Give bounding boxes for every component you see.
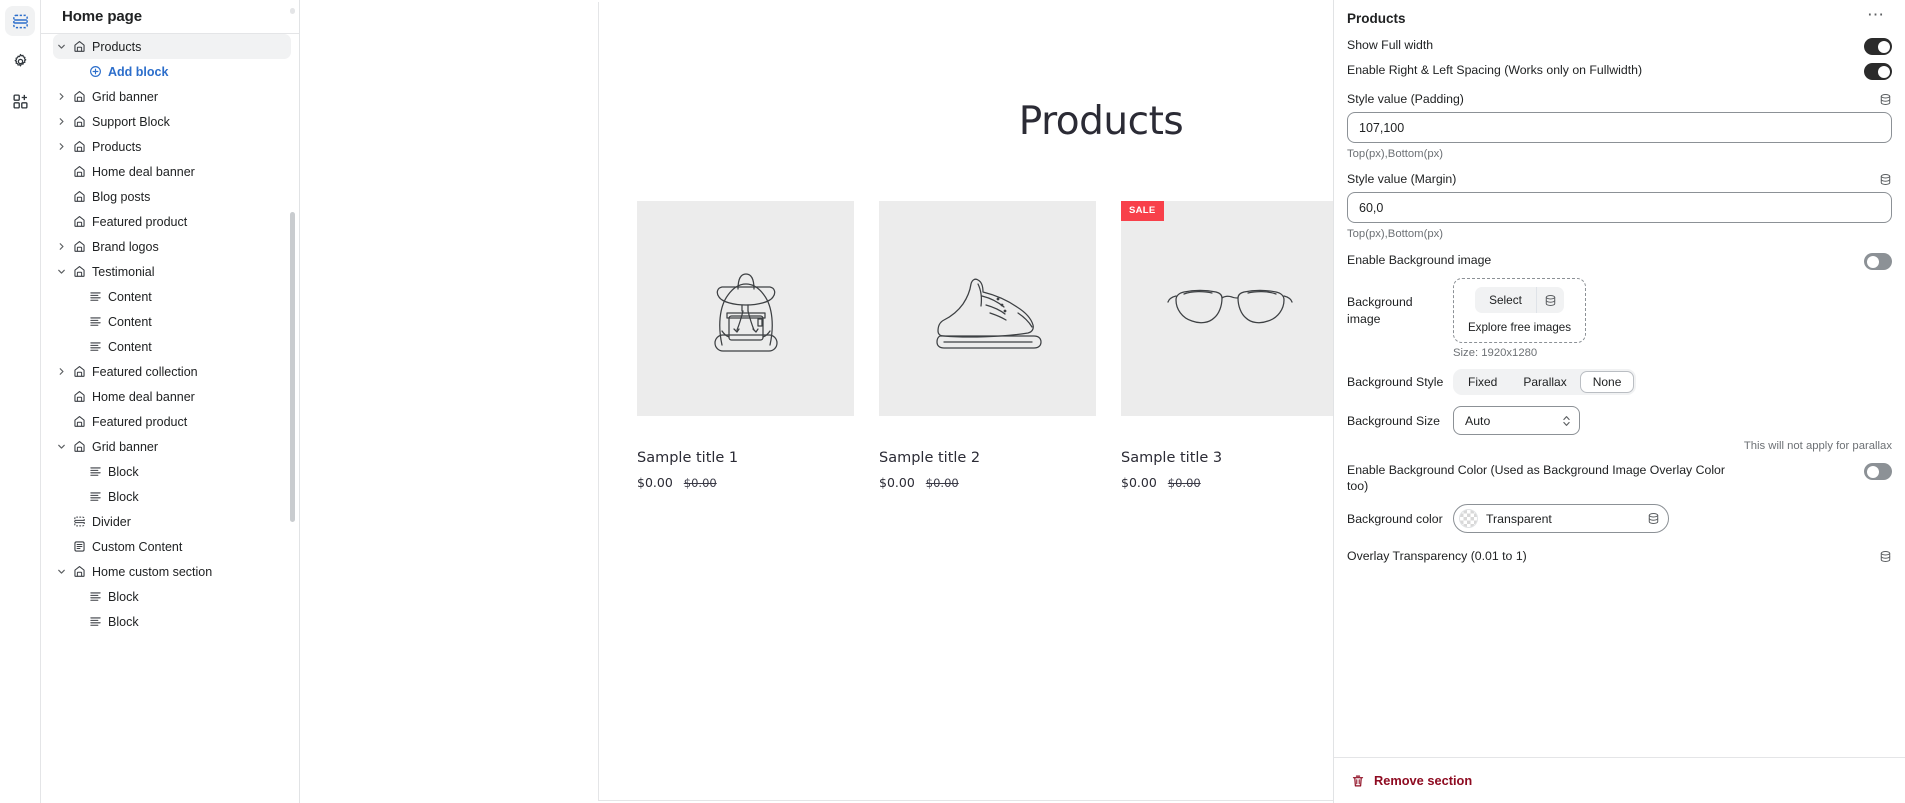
padding-hint: Top(px),Bottom(px) bbox=[1347, 143, 1892, 160]
sidebar-scrollbar-track bbox=[290, 8, 295, 14]
sidebar-item-block[interactable]: Block bbox=[53, 609, 291, 634]
toggle-knob bbox=[1878, 41, 1890, 53]
chevron-right-icon[interactable] bbox=[53, 366, 69, 377]
chevron-right-icon[interactable] bbox=[53, 91, 69, 102]
sidebar-item-label: Featured product bbox=[89, 415, 187, 429]
setting-overlay-transparency: Overlay Transparency (0.01 to 1) bbox=[1347, 533, 1892, 563]
sidebar-item-testimonial[interactable]: Testimonial bbox=[53, 259, 291, 284]
background-color-picker[interactable]: Transparent bbox=[1453, 504, 1669, 533]
background-image-size-hint: Size: 1920x1280 bbox=[1347, 343, 1892, 359]
sidebar-item-custom-content[interactable]: Custom Content bbox=[53, 534, 291, 559]
margin-label-row: Style value (Margin) bbox=[1347, 160, 1892, 186]
sidebar-item-divider[interactable]: Divider bbox=[53, 509, 291, 534]
sidebar-item-label: Custom Content bbox=[89, 540, 182, 554]
setting-background-image: Background image Select Explore free ima bbox=[1347, 270, 1892, 343]
sidebar-item-block[interactable]: Block bbox=[53, 584, 291, 609]
product-title[interactable]: Sample title 3 bbox=[1121, 450, 1338, 466]
sidebar-item-add-block[interactable]: Add block bbox=[53, 59, 291, 84]
sidebar-item-support-block[interactable]: Support Block bbox=[53, 109, 291, 134]
apps-add-icon[interactable] bbox=[5, 86, 35, 116]
sidebar-item-block[interactable]: Block bbox=[53, 459, 291, 484]
overlay-transparency-label: Overlay Transparency (0.01 to 1) bbox=[1347, 549, 1527, 563]
product-image[interactable] bbox=[637, 201, 854, 416]
sidebar-item-label: Home deal banner bbox=[89, 165, 195, 179]
sidebar-item-label: Content bbox=[105, 290, 152, 304]
setting-background-style: Background Style FixedParallaxNone bbox=[1347, 359, 1892, 395]
background-size-value: Auto bbox=[1465, 414, 1490, 428]
sidebar-item-label: Content bbox=[105, 315, 152, 329]
settings-content: Products ⋯ Show Full width Enable Right … bbox=[1334, 0, 1905, 563]
sidebar-item-home-deal-banner[interactable]: Home deal banner bbox=[53, 159, 291, 184]
dynamic-source-icon[interactable] bbox=[1647, 512, 1660, 525]
enable-bg-color-label: Enable Background Color (Used as Backgro… bbox=[1347, 462, 1747, 494]
product-price-row: $0.00$0.00 bbox=[1121, 475, 1338, 490]
sidebar-item-label: Content bbox=[105, 340, 152, 354]
dynamic-source-icon[interactable] bbox=[1879, 93, 1892, 106]
settings-footer: Remove section bbox=[1334, 757, 1905, 803]
page-title: Home page bbox=[62, 8, 142, 25]
preview-area: Products Sample title 1$0.00$0.00Sample … bbox=[300, 0, 1333, 803]
section-icon bbox=[69, 40, 89, 53]
section-icon bbox=[69, 415, 89, 428]
background-image-label: Background image bbox=[1347, 294, 1445, 326]
chevron-down-icon[interactable] bbox=[53, 566, 69, 577]
sidebar-item-block[interactable]: Block bbox=[53, 484, 291, 509]
background-style-option-fixed[interactable]: Fixed bbox=[1455, 371, 1510, 393]
select-button-group: Select bbox=[1475, 287, 1564, 313]
enable-bg-image-toggle[interactable] bbox=[1864, 253, 1892, 270]
product-card[interactable]: Sample title 1$0.00$0.00 bbox=[637, 201, 854, 490]
section-icon bbox=[69, 565, 89, 578]
section-tree-list: ProductsAdd blockGrid bannerSupport Bloc… bbox=[41, 34, 299, 634]
sidebar-item-label: Grid banner bbox=[89, 90, 158, 104]
block-icon bbox=[85, 615, 105, 628]
sidebar-item-label: Blog posts bbox=[89, 190, 150, 204]
padding-label-row: Style value (Padding) bbox=[1347, 80, 1892, 106]
section-icon bbox=[69, 90, 89, 103]
product-image[interactable] bbox=[879, 201, 1096, 416]
background-color-value: Transparent bbox=[1478, 512, 1647, 526]
block-icon bbox=[85, 340, 105, 353]
background-size-hint: This will not apply for parallax bbox=[1347, 435, 1892, 452]
background-style-option-none[interactable]: None bbox=[1580, 371, 1635, 393]
sidebar-item-label: Block bbox=[105, 465, 139, 479]
gear-icon[interactable] bbox=[5, 46, 35, 76]
background-color-label: Background color bbox=[1347, 511, 1445, 527]
custom-content-icon bbox=[69, 540, 89, 553]
chevron-down-icon[interactable] bbox=[53, 266, 69, 277]
sidebar-item-featured-product[interactable]: Featured product bbox=[53, 409, 291, 434]
sidebar-item-featured-collection[interactable]: Featured collection bbox=[53, 359, 291, 384]
dynamic-source-icon[interactable] bbox=[1879, 173, 1892, 186]
product-price: $0.00 bbox=[1121, 475, 1157, 490]
settings-title: Products bbox=[1347, 11, 1406, 26]
sale-badge: SALE bbox=[1121, 201, 1164, 221]
toggle-knob bbox=[1878, 66, 1890, 78]
sidebar-item-content[interactable]: Content bbox=[53, 334, 291, 359]
trash-icon bbox=[1351, 774, 1365, 788]
background-size-label: Background Size bbox=[1347, 414, 1445, 428]
product-compare-price: $0.00 bbox=[926, 476, 959, 490]
enable-spacing-label: Enable Right & Left Spacing (Works only … bbox=[1347, 62, 1642, 78]
show-full-width-toggle[interactable] bbox=[1864, 38, 1892, 55]
section-icon bbox=[69, 165, 89, 178]
background-size-select[interactable]: Auto bbox=[1453, 406, 1580, 435]
sections-icon[interactable] bbox=[5, 6, 35, 36]
sidebar-item-grid-banner[interactable]: Grid banner bbox=[53, 84, 291, 109]
explore-free-images-link[interactable]: Explore free images bbox=[1468, 321, 1571, 334]
section-icon bbox=[69, 390, 89, 403]
sidebar-item-content[interactable]: Content bbox=[53, 309, 291, 334]
dynamic-source-icon[interactable] bbox=[1879, 550, 1892, 563]
padding-label: Style value (Padding) bbox=[1347, 92, 1464, 106]
sidebar-item-brand-logos[interactable]: Brand logos bbox=[53, 234, 291, 259]
sidebar-item-label: Block bbox=[105, 490, 139, 504]
more-options-icon[interactable]: ⋯ bbox=[1863, 10, 1889, 26]
sidebar-item-label: Featured collection bbox=[89, 365, 198, 379]
sidebar-item-label: Featured product bbox=[89, 215, 187, 229]
sidebar-item-home-custom-section[interactable]: Home custom section bbox=[53, 559, 291, 584]
product-price-row: $0.00$0.00 bbox=[879, 475, 1096, 490]
color-swatch-icon bbox=[1459, 509, 1478, 528]
section-icon bbox=[69, 140, 89, 153]
setting-background-color: Background color Transparent bbox=[1347, 494, 1892, 533]
enable-spacing-toggle[interactable] bbox=[1864, 63, 1892, 80]
sidebar-item-label: Add block bbox=[105, 65, 168, 79]
sidebar-item-label: Home custom section bbox=[89, 565, 212, 579]
product-image[interactable]: SALE bbox=[1121, 201, 1338, 416]
background-style-segmented: FixedParallaxNone bbox=[1453, 369, 1636, 395]
section-tree[interactable]: ProductsAdd blockGrid bannerSupport Bloc… bbox=[41, 34, 299, 803]
sidebar-item-products[interactable]: Products bbox=[53, 34, 291, 59]
chevron-down-icon[interactable] bbox=[53, 41, 69, 52]
block-icon bbox=[85, 315, 105, 328]
margin-label: Style value (Margin) bbox=[1347, 172, 1456, 186]
sidebar-item-label: Products bbox=[89, 140, 141, 154]
product-compare-price: $0.00 bbox=[1168, 476, 1201, 490]
chevron-right-icon[interactable] bbox=[53, 141, 69, 152]
select-image-button[interactable]: Select bbox=[1475, 287, 1536, 313]
sidebar-item-label: Testimonial bbox=[89, 265, 155, 279]
section-icon bbox=[69, 115, 89, 128]
toggle-knob bbox=[1867, 256, 1879, 268]
left-icon-rail bbox=[0, 0, 41, 803]
chevron-down-icon[interactable] bbox=[53, 441, 69, 452]
section-icon bbox=[69, 190, 89, 203]
sidebar-item-featured-product[interactable]: Featured product bbox=[53, 209, 291, 234]
settings-panel: Products ⋯ Show Full width Enable Right … bbox=[1333, 0, 1905, 803]
section-icon bbox=[69, 265, 89, 278]
section-icon bbox=[69, 365, 89, 378]
block-icon bbox=[85, 590, 105, 603]
sidebar-item-label: Block bbox=[105, 615, 139, 629]
section-icon bbox=[69, 215, 89, 228]
margin-hint: Top(px),Bottom(px) bbox=[1347, 223, 1892, 240]
setting-enable-bg-image: Enable Background image bbox=[1347, 240, 1892, 270]
remove-section-label: Remove section bbox=[1374, 773, 1472, 788]
setting-enable-bg-color: Enable Background Color (Used as Backgro… bbox=[1347, 452, 1892, 494]
toggle-knob bbox=[1867, 466, 1879, 478]
theme-editor: Home page ProductsAdd blockGrid bannerSu… bbox=[0, 0, 1905, 803]
show-full-width-label: Show Full width bbox=[1347, 37, 1433, 53]
settings-header: Products ⋯ bbox=[1347, 0, 1892, 30]
product-price-row: $0.00$0.00 bbox=[637, 475, 854, 490]
background-style-label: Background Style bbox=[1347, 374, 1445, 390]
product-compare-price: $0.00 bbox=[684, 476, 717, 490]
enable-bg-image-label: Enable Background image bbox=[1347, 252, 1491, 268]
sidebar-item-content[interactable]: Content bbox=[53, 284, 291, 309]
sidebar-item-label: Home deal banner bbox=[89, 390, 195, 404]
sidebar-item-products[interactable]: Products bbox=[53, 134, 291, 159]
chevron-right-icon[interactable] bbox=[53, 241, 69, 252]
section-icon bbox=[69, 240, 89, 253]
sidebar-item-blog-posts[interactable]: Blog posts bbox=[53, 184, 291, 209]
product-price: $0.00 bbox=[879, 475, 915, 490]
block-icon bbox=[85, 465, 105, 478]
sidebar-item-label: Grid banner bbox=[89, 440, 158, 454]
product-price: $0.00 bbox=[637, 475, 673, 490]
product-card[interactable]: Sample title 2$0.00$0.00 bbox=[879, 201, 1096, 490]
padding-input[interactable] bbox=[1347, 112, 1892, 143]
block-icon bbox=[85, 490, 105, 503]
product-title[interactable]: Sample title 1 bbox=[637, 450, 854, 466]
product-card[interactable]: SALESample title 3$0.00$0.00 bbox=[1121, 201, 1338, 490]
sidebar-item-label: Block bbox=[105, 590, 139, 604]
section-icon bbox=[69, 440, 89, 453]
enable-bg-color-toggle[interactable] bbox=[1864, 463, 1892, 480]
sidebar-item-home-deal-banner[interactable]: Home deal banner bbox=[53, 384, 291, 409]
sidebar-item-grid-banner[interactable]: Grid banner bbox=[53, 434, 291, 459]
background-image-dropzone[interactable]: Select Explore free images bbox=[1453, 278, 1586, 343]
setting-background-size: Background Size Auto bbox=[1347, 395, 1892, 435]
setting-show-full-width: Show Full width bbox=[1347, 30, 1892, 55]
sidebar-scrollbar-thumb[interactable] bbox=[290, 212, 295, 522]
section-tree-sidebar: Home page ProductsAdd blockGrid bannerSu… bbox=[41, 0, 300, 803]
background-style-option-parallax[interactable]: Parallax bbox=[1510, 371, 1579, 393]
dynamic-source-icon[interactable] bbox=[1536, 287, 1564, 313]
product-title[interactable]: Sample title 2 bbox=[879, 450, 1096, 466]
sidebar-item-label: Brand logos bbox=[89, 240, 159, 254]
sidebar-header: Home page bbox=[41, 0, 299, 34]
remove-section-button[interactable]: Remove section bbox=[1351, 773, 1472, 788]
divider-icon bbox=[69, 515, 89, 528]
sidebar-item-label: Products bbox=[89, 40, 141, 54]
stepper-icon[interactable] bbox=[1562, 414, 1571, 428]
sidebar-item-label: Support Block bbox=[89, 115, 170, 129]
plus-circle-icon bbox=[85, 65, 105, 78]
chevron-right-icon[interactable] bbox=[53, 116, 69, 127]
setting-enable-spacing: Enable Right & Left Spacing (Works only … bbox=[1347, 55, 1892, 80]
block-icon bbox=[85, 290, 105, 303]
sidebar-item-label: Divider bbox=[89, 515, 131, 529]
margin-input[interactable] bbox=[1347, 192, 1892, 223]
